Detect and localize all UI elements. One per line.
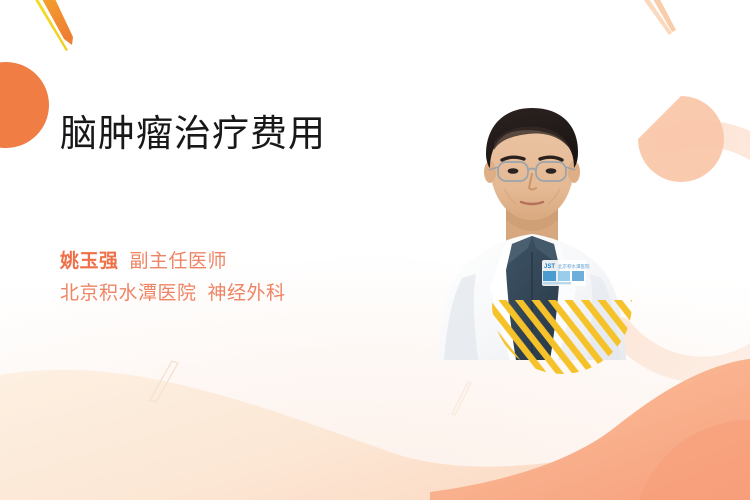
svg-text:JST: JST	[544, 264, 555, 270]
doctor-name: 姚玉强	[60, 251, 119, 272]
doctor-portrait: JST 北京积水潭医院	[432, 92, 632, 360]
peach-leaf-circle	[638, 96, 724, 182]
eye-left	[508, 168, 519, 174]
title-block: 脑肿瘤治疗费用	[60, 110, 420, 158]
doctor-affiliation-line: 北京积水潭医院神经外科	[60, 278, 440, 310]
svg-text:北京积水潭医院: 北京积水潭医院	[558, 263, 590, 270]
outlined-diagonal-stroke-right	[452, 382, 471, 415]
hospital-name: 北京积水潭医院	[60, 283, 197, 304]
doctor-identity-line: 姚玉强副主任医师	[60, 246, 440, 278]
doctor-topic-banner: JST 北京积水潭医院 脑肿瘤治疗费用 姚玉强副主任医师 北京积水潭医院神经外科	[0, 0, 750, 500]
doctor-rank: 副主任医师	[130, 251, 228, 272]
doctor-credit-block: 姚玉强副主任医师 北京积水潭医院神经外科	[60, 246, 440, 310]
orange-circle-top-left	[0, 62, 49, 148]
peach-double-stroke-inner	[650, 0, 676, 32]
hospital-badge: JST 北京积水潭医院	[542, 260, 590, 286]
eye-right	[546, 168, 557, 174]
page-title: 脑肿瘤治疗费用	[60, 110, 420, 158]
department-name: 神经外科	[208, 283, 286, 304]
